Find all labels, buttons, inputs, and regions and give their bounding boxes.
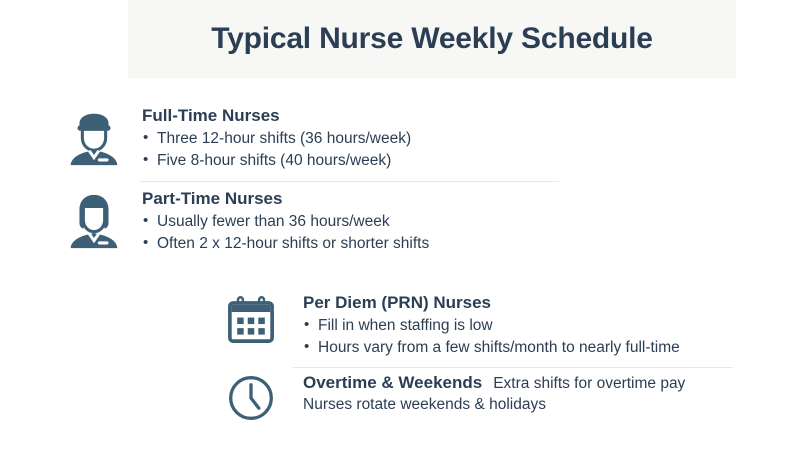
overtime-inline-note: Extra shifts for overtime pay [493, 375, 685, 393]
nurse-male-icon-cell [45, 105, 142, 169]
list-item: Hours vary from a few shifts/month to ne… [303, 337, 755, 359]
overtime-headline-row: Overtime & Weekends Extra shifts for ove… [303, 373, 755, 393]
part-time-text: Part-Time Nurses Usually fewer than 36 h… [142, 188, 566, 255]
overtime-text: Overtime & Weekends Extra shifts for ove… [303, 373, 755, 416]
nurse-male-icon [63, 107, 125, 169]
full-time-bullets: Three 12-hour shifts (36 hours/week) Fiv… [142, 128, 566, 172]
list-item: Fill in when staffing is low [303, 315, 755, 337]
row-per-diem-nurses: Per Diem (PRN) Nurses Fill in when staff… [198, 290, 755, 359]
infographic-canvas: Typical Nurse Weekly Schedule [0, 0, 800, 450]
full-time-heading: Full-Time Nurses [142, 105, 566, 127]
list-item: Often 2 x 12-hour shifts or shorter shif… [142, 233, 566, 255]
list-item: Usually fewer than 36 hours/week [142, 211, 566, 233]
list-item: Three 12-hour shifts (36 hours/week) [142, 128, 566, 150]
calendar-icon-cell [198, 292, 303, 346]
part-time-heading: Part-Time Nurses [142, 188, 566, 210]
calendar-icon [225, 294, 277, 346]
list-item: Five 8-hour shifts (40 hours/week) [142, 150, 566, 172]
per-diem-bullets: Fill in when staffing is low Hours vary … [303, 315, 755, 359]
row-overtime-weekends: Overtime & Weekends Extra shifts for ove… [198, 368, 755, 423]
card-employment-types: Full-Time Nurses Three 12-hour shifts (3… [45, 92, 566, 278]
card-prn-overtime: Per Diem (PRN) Nurses Fill in when staff… [198, 282, 755, 440]
title-banner: Typical Nurse Weekly Schedule [128, 0, 736, 78]
row-part-time-nurses: Part-Time Nurses Usually fewer than 36 h… [45, 182, 566, 255]
nurse-female-icon [63, 190, 125, 252]
overtime-subline: Nurses rotate weekends & holidays [303, 394, 755, 416]
clock-icon [226, 373, 276, 423]
part-time-bullets: Usually fewer than 36 hours/week Often 2… [142, 211, 566, 255]
row-full-time-nurses: Full-Time Nurses Three 12-hour shifts (3… [45, 102, 566, 172]
per-diem-heading: Per Diem (PRN) Nurses [303, 292, 755, 314]
page-title: Typical Nurse Weekly Schedule [211, 22, 653, 56]
full-time-text: Full-Time Nurses Three 12-hour shifts (3… [142, 105, 566, 172]
overtime-heading: Overtime & Weekends [303, 373, 482, 393]
clock-icon-cell [198, 373, 303, 423]
nurse-female-icon-cell [45, 188, 142, 252]
per-diem-text: Per Diem (PRN) Nurses Fill in when staff… [303, 292, 755, 359]
